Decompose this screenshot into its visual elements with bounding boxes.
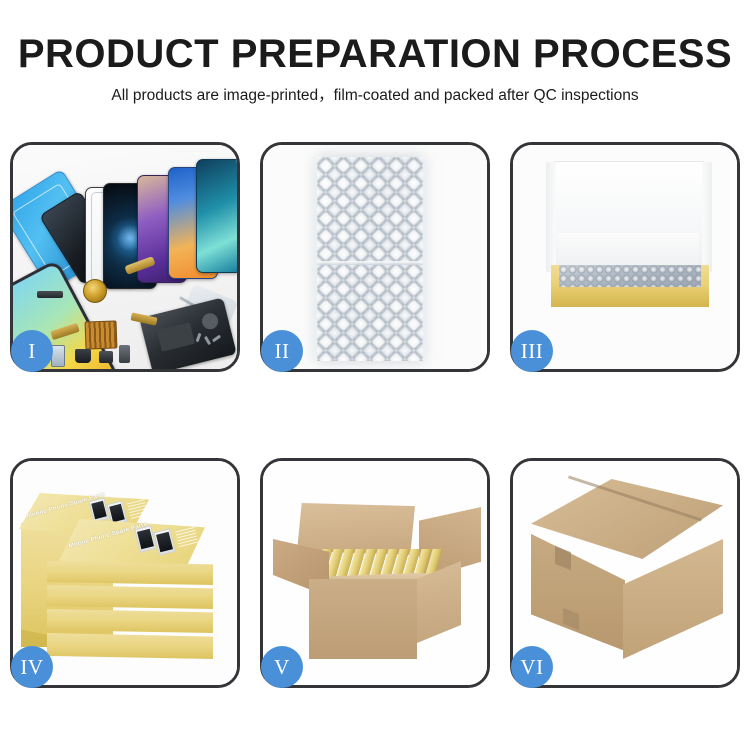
retail-box-layer-4 [47,633,213,659]
camera-module-icon [99,351,113,363]
bubble-wrap-pack-icon [317,157,423,361]
panel-bubble-wrapped-item: II [260,142,490,372]
copper-coil-icon [83,279,107,303]
phone-teal-wallpaper-icon [196,159,237,273]
product-preparation-infographic: PRODUCT PREPARATION PROCESS All products… [0,0,750,750]
panel-badge-6: VI [511,646,553,688]
retail-box-layer-3 [47,609,213,633]
panel-yellow-tray-box-open: III [510,142,740,372]
panel-grid: I II [10,142,740,678]
panel-product-assortment: I [10,142,240,372]
panel-badge-2: II [261,330,303,372]
screws-icon [197,333,223,351]
antenna-bar-icon [37,291,63,298]
retail-box-layer-2 [47,585,213,609]
panel-stacked-retail-boxes: Mobile Phone Spare Parts Mobile Phone Sp… [10,458,240,688]
header: PRODUCT PREPARATION PROCESS All products… [0,0,750,130]
page-subtitle: All products are image-printed，film-coat… [0,86,750,106]
bubble-pattern-secondary [317,157,423,361]
carton-body-front [309,579,417,659]
page-title: PRODUCT PREPARATION PROCESS [0,32,750,76]
pack-seam [317,261,423,265]
small-phone-icon [51,345,65,367]
copper-grid-chip-icon [85,320,118,349]
foam-sheet-icon [557,233,699,269]
carton-flap-back [297,503,415,555]
bubble-wrapped-contents-icon [559,265,701,289]
panel-badge-1: I [11,330,53,372]
speaker-icon [75,349,91,363]
panel-badge-3: III [511,330,553,372]
battery-icon [119,345,130,363]
panel-badge-4: IV [11,646,53,688]
panel-sealed-shipping-carton: VI [510,458,740,688]
retail-box-layer-1 [47,561,213,585]
panel-badge-5: V [261,646,303,688]
panel-open-shipping-carton: V [260,458,490,688]
yellow-box-front-panel [551,287,709,307]
